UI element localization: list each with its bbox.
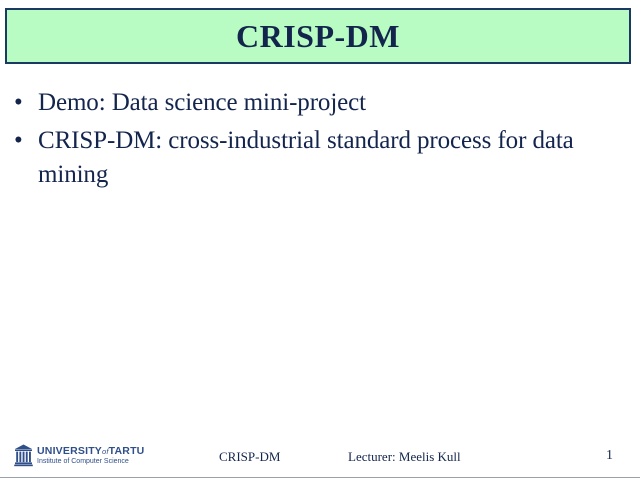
university-logo-text: UNIVERSITYofTARTU Institute of Computer … (37, 446, 144, 465)
bullet-list: • Demo: Data science mini-project • CRIS… (12, 86, 634, 196)
footer-lecturer-label: Lecturer: Meelis Kull (348, 449, 461, 465)
slide-canvas: CRISP-DM • Demo: Data science mini-proje… (0, 0, 640, 480)
institute-name: Institute of Computer Science (37, 458, 144, 465)
bullet-text: CRISP-DM: cross-industrial standard proc… (38, 124, 634, 192)
slide-bottom-divider (0, 477, 640, 478)
bullet-text: Demo: Data science mini-project (38, 86, 634, 120)
bullet-point-icon: • (12, 86, 38, 120)
list-item: • Demo: Data science mini-project (12, 86, 634, 120)
slide-footer: UNIVERSITYofTARTU Institute of Computer … (0, 441, 640, 475)
university-name: UNIVERSITYofTARTU (37, 446, 144, 457)
footer-course-label: CRISP-DM (219, 449, 280, 465)
page-title: CRISP-DM (236, 20, 400, 52)
bullet-point-icon: • (12, 124, 38, 158)
slide-title-banner: CRISP-DM (5, 8, 631, 64)
list-item: • CRISP-DM: cross-industrial standard pr… (12, 124, 634, 192)
footer-page-number: 1 (606, 448, 613, 464)
university-logo: UNIVERSITYofTARTU Institute of Computer … (14, 444, 144, 467)
university-building-icon (14, 444, 33, 467)
